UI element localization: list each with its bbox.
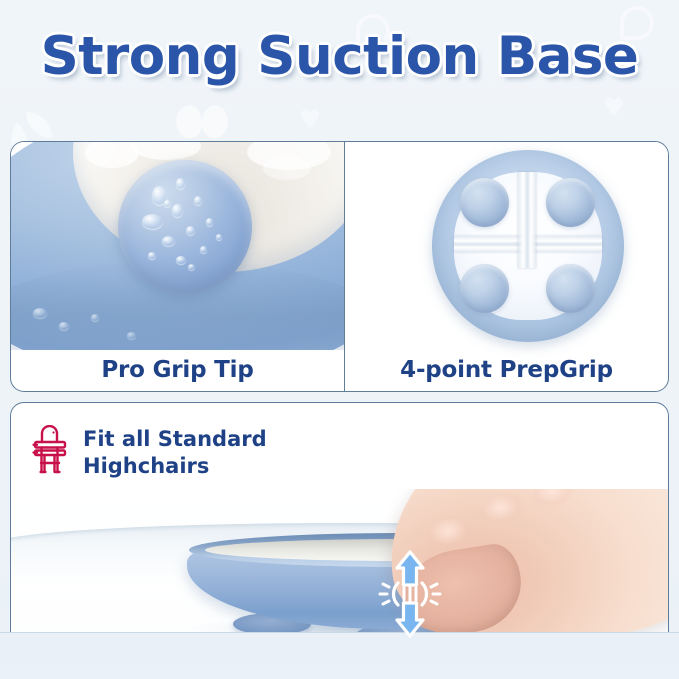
water-droplet xyxy=(162,236,175,246)
knuckle xyxy=(530,489,585,517)
pro-grip-tip-photo xyxy=(11,142,344,350)
water-droplet xyxy=(206,218,213,226)
suction-pad xyxy=(546,178,595,227)
highchair-badge: Fit all Standard Highchairs xyxy=(31,425,267,480)
prep-grip-photo xyxy=(345,142,669,350)
water-droplet xyxy=(200,246,207,253)
water-droplet xyxy=(142,214,163,229)
panel-pro-grip-tip: Pro Grip Tip xyxy=(10,141,344,392)
water-droplet xyxy=(91,314,99,321)
up-down-suction-arrow-icon xyxy=(373,549,447,639)
page-title: Strong Suction Base xyxy=(0,26,679,87)
suction-pad xyxy=(460,264,509,313)
water-droplet xyxy=(172,204,183,217)
highchair-icon xyxy=(31,425,71,480)
panel-prep-grip: 4-point PrepGrip xyxy=(344,141,669,392)
bottom-band xyxy=(0,632,679,679)
suction-pad xyxy=(546,264,595,313)
page-title-text: Strong Suction Base xyxy=(41,26,639,87)
water-droplet xyxy=(186,226,195,235)
highchair-badge-label: Fit all Standard Highchairs xyxy=(83,426,267,478)
water-droplet xyxy=(148,252,156,259)
water-droplet xyxy=(33,308,47,318)
leaf-motif-icon xyxy=(26,112,52,138)
suction-pad xyxy=(460,178,509,227)
foam-bubble xyxy=(263,156,311,180)
suction-base-disc xyxy=(432,150,624,342)
panel-caption-pro-grip: Pro Grip Tip xyxy=(11,357,344,383)
suction-channel-vertical xyxy=(518,172,536,268)
water-droplet xyxy=(176,178,185,189)
butterfly-motif-icon xyxy=(176,106,228,140)
knuckle xyxy=(478,490,535,536)
water-droplet xyxy=(194,196,202,205)
panel-caption-prep-grip: 4-point PrepGrip xyxy=(345,357,668,383)
panel-highchair-fit: Fit all Standard Highchairs xyxy=(10,402,669,668)
heart-motif-icon xyxy=(300,108,320,128)
infographic-canvas: Strong Suction Base xyxy=(0,0,679,679)
water-droplet xyxy=(216,234,222,240)
water-droplet xyxy=(127,332,136,339)
water-droplet xyxy=(164,200,171,207)
bowl-shadow xyxy=(11,260,344,350)
water-droplet xyxy=(59,322,69,330)
heart-motif-icon xyxy=(604,96,624,116)
